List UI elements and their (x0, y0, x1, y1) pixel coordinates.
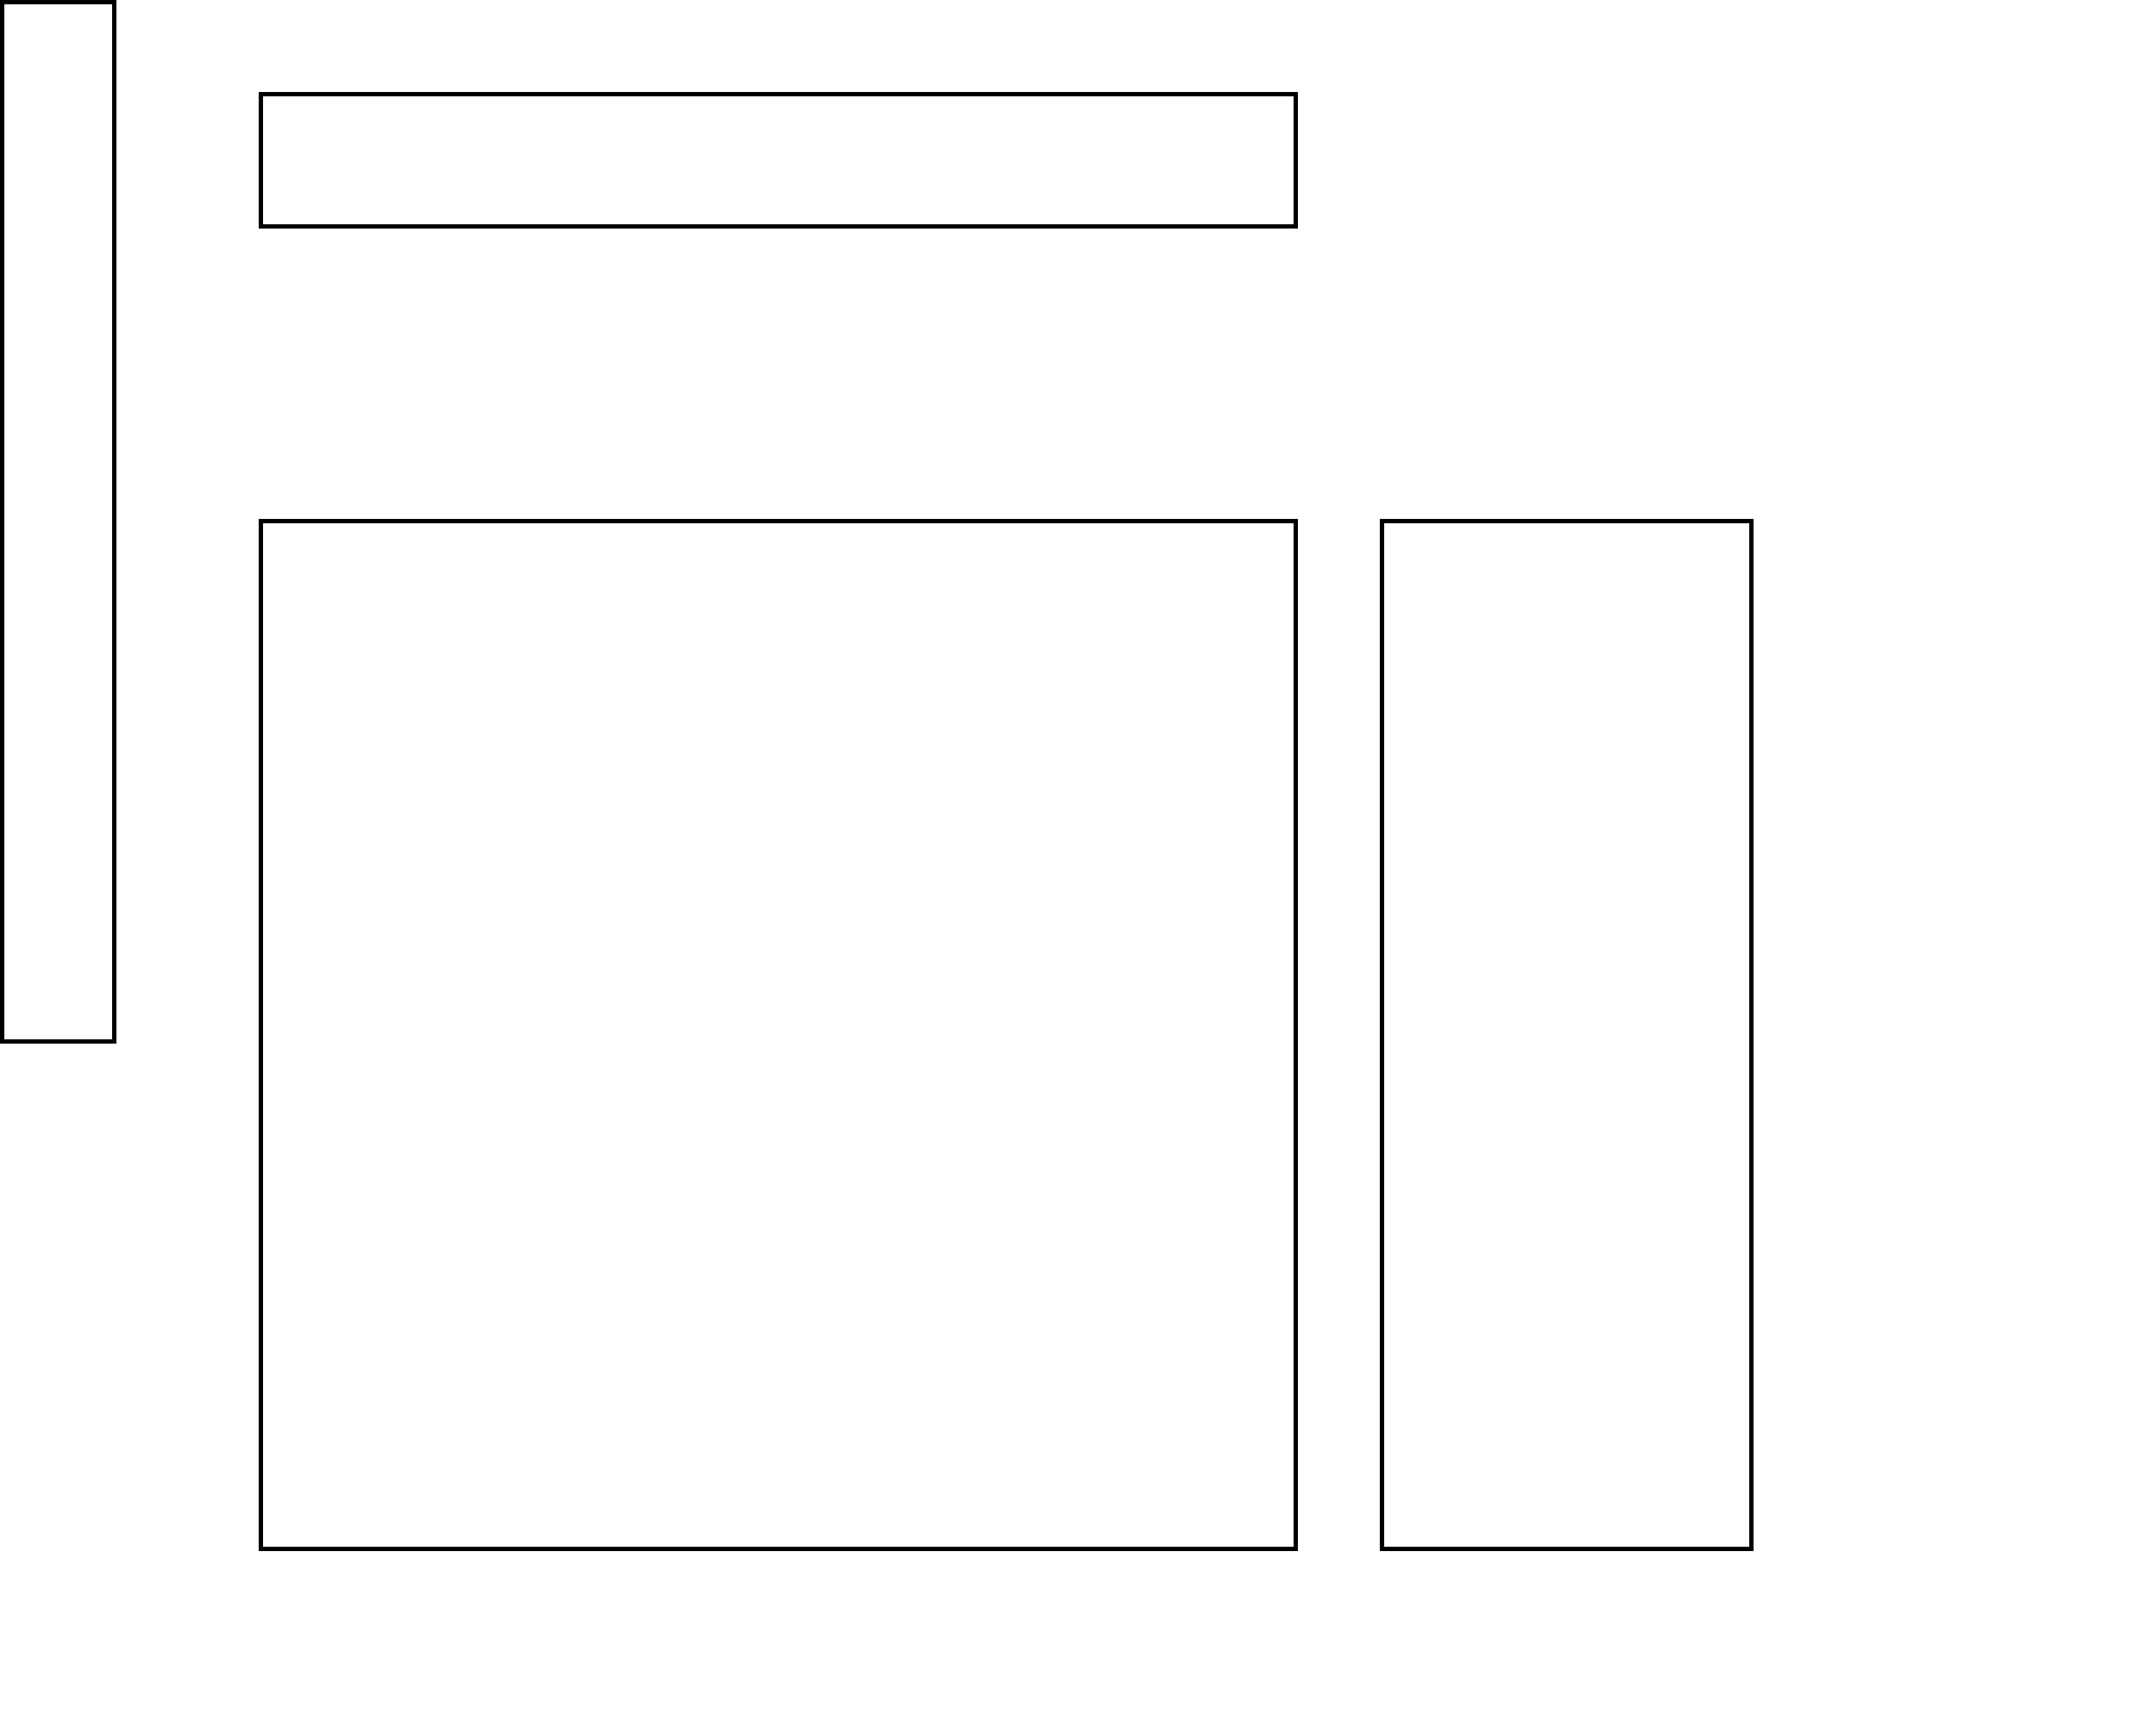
figure-canvas (0, 0, 2156, 1725)
colorbar-gradient (0, 0, 2156, 1725)
colorbar (0, 0, 116, 1044)
